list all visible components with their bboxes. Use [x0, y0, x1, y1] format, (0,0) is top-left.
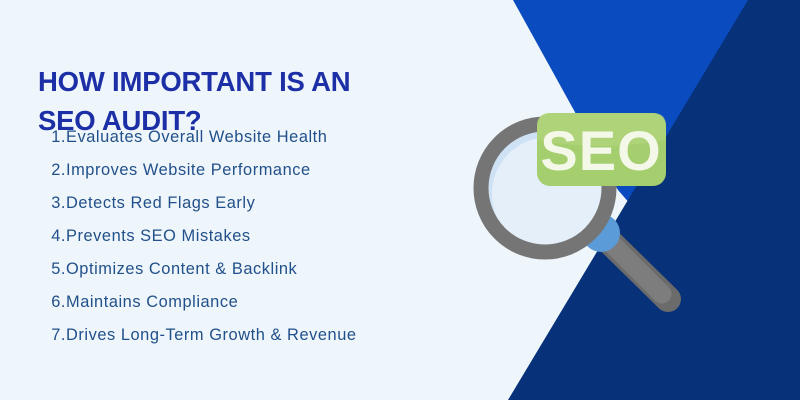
list-item: 6. Maintains Compliance — [44, 293, 474, 326]
list-item-label: Prevents SEO Mistakes — [66, 227, 251, 246]
list-item: 2. Improves Website Performance — [44, 161, 474, 194]
list-item-label: Drives Long-Term Growth & Revenue — [66, 326, 357, 345]
list-item-number: 4. — [44, 227, 66, 246]
list-item-label: Optimizes Content & Backlink — [66, 260, 297, 279]
list-item-label: Evaluates Overall Website Health — [66, 128, 327, 147]
list-item-label: Maintains Compliance — [66, 293, 238, 312]
text-column: How Important Is An SEO Audit? 1. Evalua… — [0, 0, 480, 400]
list-item-number: 1. — [44, 128, 66, 147]
seo-badge: SEO — [537, 113, 666, 186]
seo-badge-label: SEO — [540, 119, 661, 182]
list-item-number: 6. — [44, 293, 66, 312]
list-item-number: 5. — [44, 260, 66, 279]
benefits-list: 1. Evaluates Overall Website Health 2. I… — [44, 128, 474, 359]
list-item: 1. Evaluates Overall Website Health — [44, 128, 474, 161]
list-item-number: 3. — [44, 194, 66, 213]
list-item-label: Improves Website Performance — [66, 161, 311, 180]
magnifier-handle — [608, 240, 668, 299]
seo-audit-infographic: SEO How Important Is An SEO Audit? 1. Ev… — [0, 0, 800, 400]
list-item-number: 7. — [44, 326, 66, 345]
page-title-line-1: How Important Is An — [38, 62, 458, 101]
list-item: 7. Drives Long-Term Growth & Revenue — [44, 326, 474, 359]
list-item: 4. Prevents SEO Mistakes — [44, 227, 474, 260]
list-item-label: Detects Red Flags Early — [66, 194, 255, 213]
list-item-number: 2. — [44, 161, 66, 180]
list-item: 3. Detects Red Flags Early — [44, 194, 474, 227]
list-item: 5. Optimizes Content & Backlink — [44, 260, 474, 293]
